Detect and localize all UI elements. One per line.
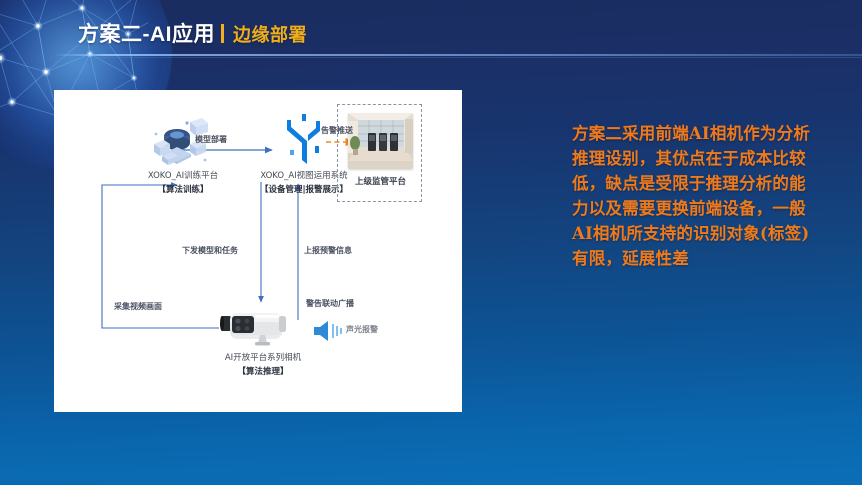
title-main: 方案二-AI应用 [78, 18, 215, 48]
description-text: 方案二采用前端AI相机作为分析推理设别，其优点在于成本比较低，缺点是受限于推理分… [572, 121, 820, 271]
slide-root: 方案二-AI应用 边缘部署 [0, 0, 862, 485]
xoko-y-logo-icon [282, 112, 326, 168]
train-platform-title: XOKO_AI训练平台 [128, 172, 238, 182]
speaker-label: 声光报警 [346, 324, 378, 335]
header-divider [56, 54, 862, 56]
diagram-canvas: XOKO_AI训练平台 【算法训练】 XOKO_AI视图运用系统 【设备管理|报… [54, 90, 462, 412]
monitoring-room-photo [348, 113, 413, 169]
supervisor-platform-title: 上级监管平台 [338, 175, 423, 187]
arrow-label-alarm-broadcast: 警告联动广播 [306, 299, 354, 308]
header-divider-shadow [56, 57, 862, 58]
arrow-label-model-deploy: 模型部署 [195, 135, 227, 144]
arrow-label-report-alert: 上报预警信息 [304, 246, 352, 255]
supervisor-platform-box: 上级监管平台 [337, 104, 422, 202]
camera-title: AI开放平台系列相机 [192, 354, 334, 364]
arrow-label-push-model-task: 下发模型和任务 [182, 246, 238, 255]
title-separator [221, 24, 224, 43]
arrow-label-alarm-push: 告警推送 [321, 126, 353, 135]
arrow-label-capture-video: 采集视频画面 [114, 302, 162, 311]
bullet-camera-icon [219, 305, 305, 349]
page-title: 方案二-AI应用 边缘部署 [78, 18, 307, 48]
camera-sub: 【算法推理】 [192, 368, 334, 378]
slide-header: 方案二-AI应用 边缘部署 [0, 18, 862, 52]
title-sub: 边缘部署 [233, 21, 307, 47]
speaker-icon [312, 318, 346, 344]
diagram-panel: XOKO_AI训练平台 【算法训练】 XOKO_AI视图运用系统 【设备管理|报… [54, 90, 462, 412]
train-platform-sub: 【算法训练】 [128, 186, 238, 196]
